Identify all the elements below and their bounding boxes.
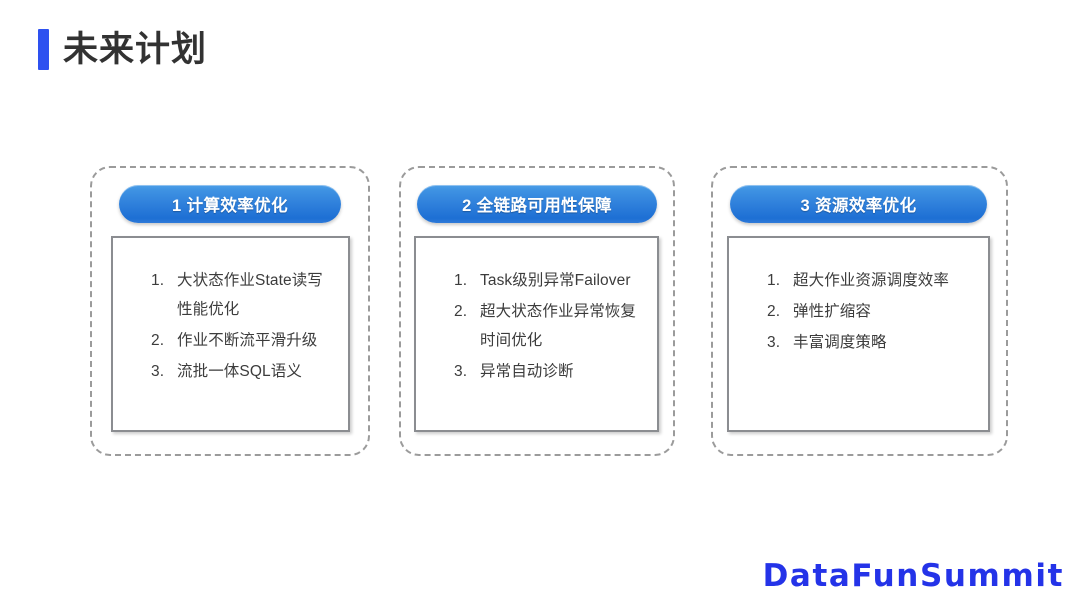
datafunsummit-logo: DataFunSummit — [763, 558, 1064, 594]
card-row: 1 计算效率优化 大状态作业State读写性能优化 作业不断流平滑升级 流批一体… — [0, 166, 1080, 458]
list-item: 异常自动诊断 — [454, 357, 647, 386]
list-item: Task级别异常Failover — [454, 266, 647, 295]
list-item: 超大状态作业异常恢复时间优化 — [454, 297, 647, 355]
card-header-3[interactable]: 3 资源效率优化 — [730, 185, 987, 223]
card-compute-efficiency: 1 计算效率优化 大状态作业State读写性能优化 作业不断流平滑升级 流批一体… — [90, 166, 370, 456]
list-item: 超大作业资源调度效率 — [767, 266, 978, 295]
card-list-1: 大状态作业State读写性能优化 作业不断流平滑升级 流批一体SQL语义 — [113, 238, 348, 386]
card-availability-assurance: 2 全链路可用性保障 Task级别异常Failover 超大状态作业异常恢复时间… — [399, 166, 675, 456]
card-list-3: 超大作业资源调度效率 弹性扩缩容 丰富调度策略 — [729, 238, 988, 357]
page-title-label: 未来计划 — [63, 32, 207, 67]
card-body-2: Task级别异常Failover 超大状态作业异常恢复时间优化 异常自动诊断 — [414, 236, 659, 432]
card-header-label-3: 3 资源效率优化 — [801, 192, 917, 216]
list-item: 作业不断流平滑升级 — [151, 326, 338, 355]
list-item: 弹性扩缩容 — [767, 297, 978, 326]
card-header-label-1: 1 计算效率优化 — [172, 192, 288, 216]
list-item: 大状态作业State读写性能优化 — [151, 266, 338, 324]
card-body-1: 大状态作业State读写性能优化 作业不断流平滑升级 流批一体SQL语义 — [111, 236, 350, 432]
card-header-label-2: 2 全链路可用性保障 — [462, 192, 612, 216]
card-body-3: 超大作业资源调度效率 弹性扩缩容 丰富调度策略 — [727, 236, 990, 432]
list-item: 丰富调度策略 — [767, 328, 978, 357]
card-resource-efficiency: 3 资源效率优化 超大作业资源调度效率 弹性扩缩容 丰富调度策略 — [711, 166, 1008, 456]
title-accent-bar — [38, 29, 49, 70]
card-header-1[interactable]: 1 计算效率优化 — [119, 185, 341, 223]
page-title: 未来计划 — [38, 29, 207, 70]
card-header-2[interactable]: 2 全链路可用性保障 — [417, 185, 657, 223]
card-list-2: Task级别异常Failover 超大状态作业异常恢复时间优化 异常自动诊断 — [416, 238, 657, 386]
list-item: 流批一体SQL语义 — [151, 357, 338, 386]
